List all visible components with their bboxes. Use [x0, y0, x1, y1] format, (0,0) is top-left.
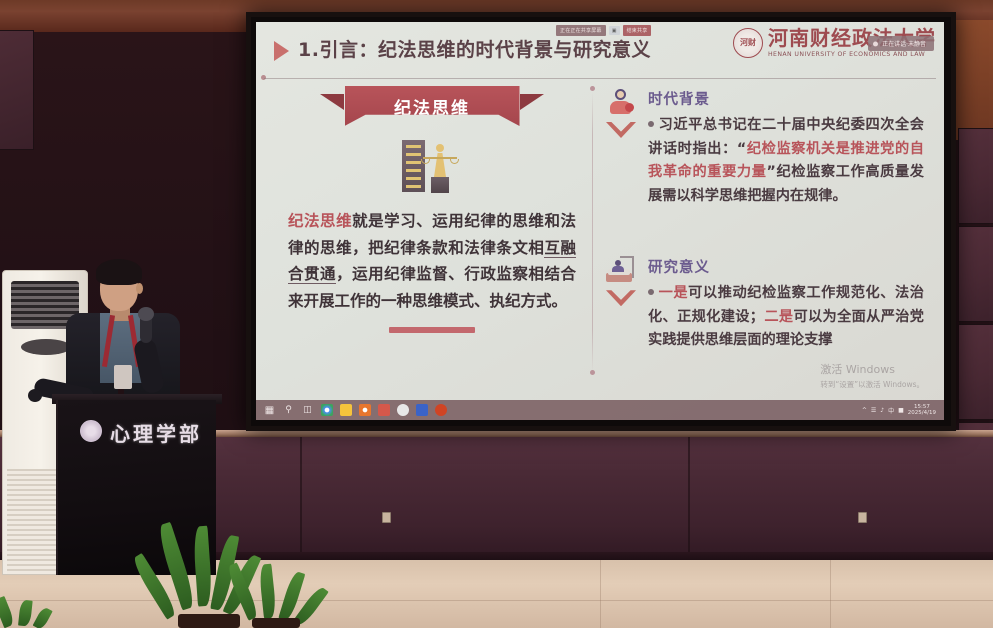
presenter-hair [96, 259, 142, 285]
section-heading: 研究意义 [648, 256, 924, 277]
microphone-head [138, 307, 154, 321]
left-column-underline-bar [389, 327, 475, 333]
presenter-ear [136, 283, 143, 294]
wall-wood-accent-right [955, 20, 993, 140]
sharing-status-chip: 正在正在共享屏幕 [556, 25, 606, 36]
wall-outlet [858, 512, 867, 523]
up-chevron-icon[interactable]: ^ [862, 407, 867, 414]
share-panel-icon[interactable]: ▣ [609, 26, 620, 35]
screen-share-toolbar[interactable]: 正在正在共享屏幕 ▣ 结束共享 [556, 25, 651, 36]
wall-outlet [382, 512, 391, 523]
app-red-icon[interactable] [374, 400, 393, 420]
concept-ribbon-banner: 纪法思维 [345, 86, 520, 126]
ribbon-wing-right [520, 94, 544, 110]
bullet-dot-icon [648, 289, 654, 295]
definition-term: 纪法思维 [288, 212, 352, 230]
podium-department-label: 心理学部 [110, 418, 202, 447]
windows-start-icon[interactable]: ▦ [260, 400, 279, 420]
podium-emblem-icon [80, 420, 102, 442]
divider-dot-top [590, 86, 595, 91]
bullet-dot-icon [648, 121, 654, 127]
projection-screen: 1.引言：纪法思维的时代背景与研究意义 正在正在共享屏幕 ▣ 结束共享 河财 河… [256, 22, 944, 420]
right-points-column: 时代背景 习近平总书记在二十届中央纪委四次全会讲话时指出：“纪检监察机关是推进党… [604, 88, 924, 353]
left-concept-column: 纪法思维 [284, 86, 580, 333]
presenter-id-badge [114, 365, 132, 389]
university-name-en: HENAN UNIVERSITY OF ECONOMICS AND LAW [768, 51, 936, 58]
point-two-marker: 二是 [764, 309, 793, 325]
chevron-down-icon [606, 290, 636, 306]
header-divider [264, 78, 936, 79]
windows-taskbar[interactable]: ▦ ⚲ ◫ ^ ☰ ♪ 中 ■ 15:57 2025/ [256, 400, 944, 420]
clock-time: 15:57 [914, 404, 930, 410]
acoustic-panel-right-1 [958, 128, 993, 224]
battery-icon[interactable]: ■ [898, 407, 904, 414]
presentation-slide: 1.引言：纪法思维的时代背景与研究意义 正在正在共享屏幕 ▣ 结束共享 河财 河… [256, 22, 944, 420]
ribbon-label: 纪法思维 [394, 94, 470, 119]
section-research-significance: 研究意义 一是可以推动纪检监察工作规范化、法治化、正规化建设；二是可以为全面从严… [604, 256, 924, 353]
windows-activation-watermark: 激活 Windows 转到“设置”以激活 Windows。 [820, 361, 924, 390]
network-icon[interactable]: ☰ [871, 407, 876, 414]
file-explorer-icon[interactable] [336, 400, 355, 420]
activation-line-2: 转到“设置”以激活 Windows。 [820, 379, 924, 390]
volume-icon[interactable]: ♪ [880, 407, 884, 414]
point-one-marker: 一是 [658, 285, 688, 301]
powerpoint-icon[interactable] [431, 400, 450, 420]
floor-tile-line [0, 600, 993, 601]
column-divider [592, 92, 593, 372]
browser-icon[interactable] [355, 400, 374, 420]
taskbar-clock[interactable]: 15:57 2025/4/19 [908, 404, 936, 417]
courthouse-building-shape [402, 140, 425, 192]
activation-line-1: 激活 Windows [820, 361, 924, 377]
university-seal-icon: 河财 [733, 28, 763, 58]
slide-title: 1.引言：纪法思维的时代背景与研究意义 [298, 35, 651, 62]
section-body: 习近平总书记在二十届中央纪委四次全会讲话时指出：“纪检监察机关是推进党的自我革命… [648, 114, 924, 208]
acoustic-panel-right-3 [958, 324, 993, 420]
acoustic-panel-right-2 [958, 226, 993, 322]
section-heading: 时代背景 [648, 88, 924, 109]
stage-wall-seam [688, 437, 690, 555]
potted-plant-bottom-left [0, 596, 70, 628]
section-body: 一是可以推动纪检监察工作规范化、法治化、正规化建设；二是可以为全面从严治党实践提… [648, 282, 924, 353]
floor-tile-line [830, 560, 831, 628]
lecture-hall-photo: 1.引言：纪法思维的时代背景与研究意义 正在正在共享屏幕 ▣ 结束共享 河财 河… [0, 0, 993, 628]
acoustic-panel-left [0, 30, 34, 150]
system-tray[interactable]: ^ ☰ ♪ 中 ■ 15:57 2025/4/19 [862, 404, 940, 417]
stop-sharing-button[interactable]: 结束共享 [623, 25, 652, 36]
chevron-down-icon [606, 122, 636, 138]
chrome-icon[interactable] [317, 400, 336, 420]
search-icon[interactable]: ⚲ [279, 400, 298, 420]
justice-figure-shape [430, 144, 450, 192]
play-triangle-icon [274, 41, 289, 61]
stage-wall-seam [300, 437, 302, 555]
presenter-hand-with-clicker [28, 389, 42, 402]
app-blue-icon[interactable] [412, 400, 431, 420]
task-view-icon[interactable]: ◫ [298, 400, 317, 420]
clock-date: 2025/4/19 [908, 410, 936, 416]
floor-tile-line [600, 560, 601, 628]
concept-definition-paragraph: 纪法思维就是学习、运用纪律的思维和法律的思维，把纪律条款和法律条文相互融合贯通，… [284, 208, 580, 315]
person-badge-icon [608, 88, 636, 118]
divider-dot-bottom [590, 370, 595, 375]
ime-icon[interactable]: 中 [888, 406, 894, 415]
speaking-status-badge: 正在讲话·未静音 [868, 36, 934, 51]
desk-lamp-book-icon [606, 256, 640, 288]
section-era-background: 时代背景 习近平总书记在二十届中央纪委四次全会讲话时指出：“纪检监察机关是推进党… [604, 88, 924, 208]
courthouse-scales-icon [284, 134, 580, 200]
potted-plant-center [230, 560, 340, 628]
ribbon-wing-left [320, 94, 344, 110]
settings-gear-icon[interactable] [393, 400, 412, 420]
